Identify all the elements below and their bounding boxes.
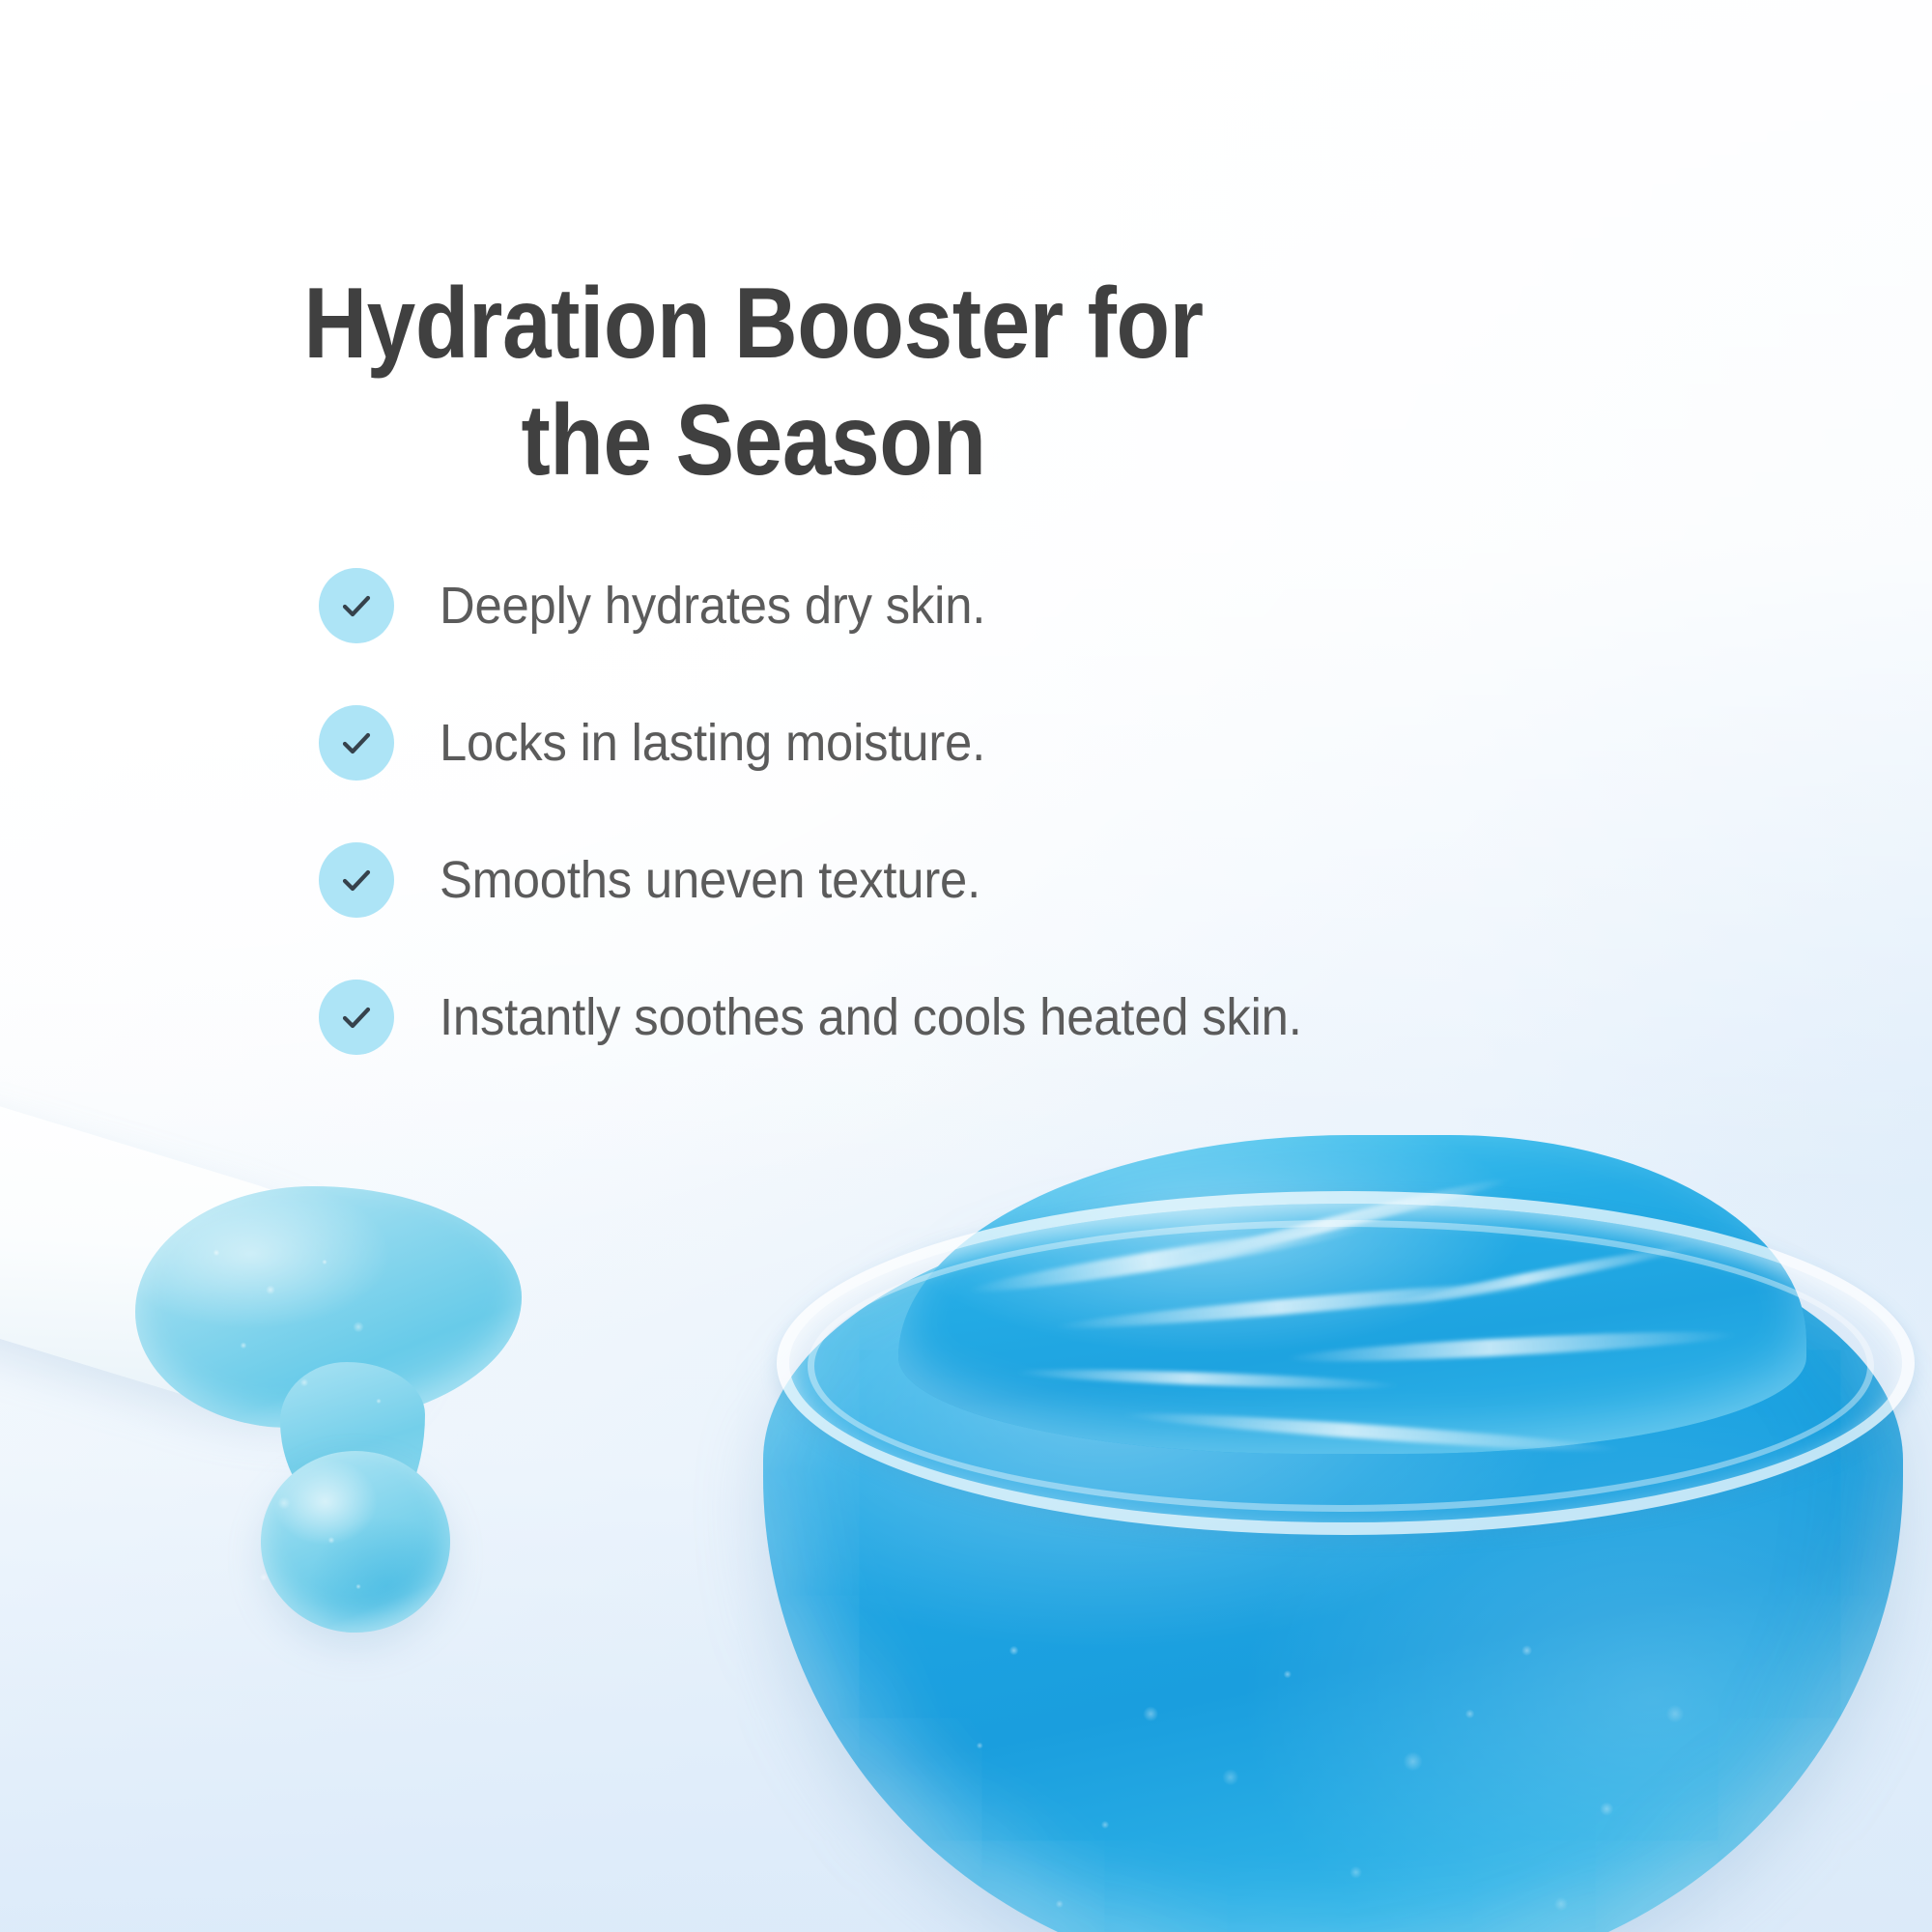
gel-bowl xyxy=(763,1135,1903,1932)
list-item: Smooths uneven texture. xyxy=(319,842,1826,918)
check-icon xyxy=(319,705,394,781)
check-icon xyxy=(319,980,394,1055)
benefit-label: Locks in lasting moisture. xyxy=(440,717,985,769)
gel-spatula xyxy=(0,1082,676,1690)
list-item: Locks in lasting moisture. xyxy=(319,705,1826,781)
promo-graphic: Hydration Booster for the Season Deeply … xyxy=(0,0,1932,1932)
list-item: Instantly soothes and cools heated skin. xyxy=(319,980,1826,1055)
check-icon xyxy=(319,568,394,643)
product-photo xyxy=(0,1082,1932,1932)
list-item: Deeply hydrates dry skin. xyxy=(319,568,1826,643)
benefit-list: Deeply hydrates dry skin. Locks in lasti… xyxy=(319,568,1826,1055)
benefit-label: Deeply hydrates dry skin. xyxy=(440,580,985,632)
check-icon xyxy=(319,842,394,918)
page-title: Hydration Booster for the Season xyxy=(95,266,1413,500)
gel-bubbles xyxy=(135,1179,473,1642)
bowl-glass-rim-inner xyxy=(808,1220,1874,1512)
benefit-label: Smooths uneven texture. xyxy=(440,854,980,906)
benefit-label: Instantly soothes and cools heated skin. xyxy=(440,991,1302,1043)
